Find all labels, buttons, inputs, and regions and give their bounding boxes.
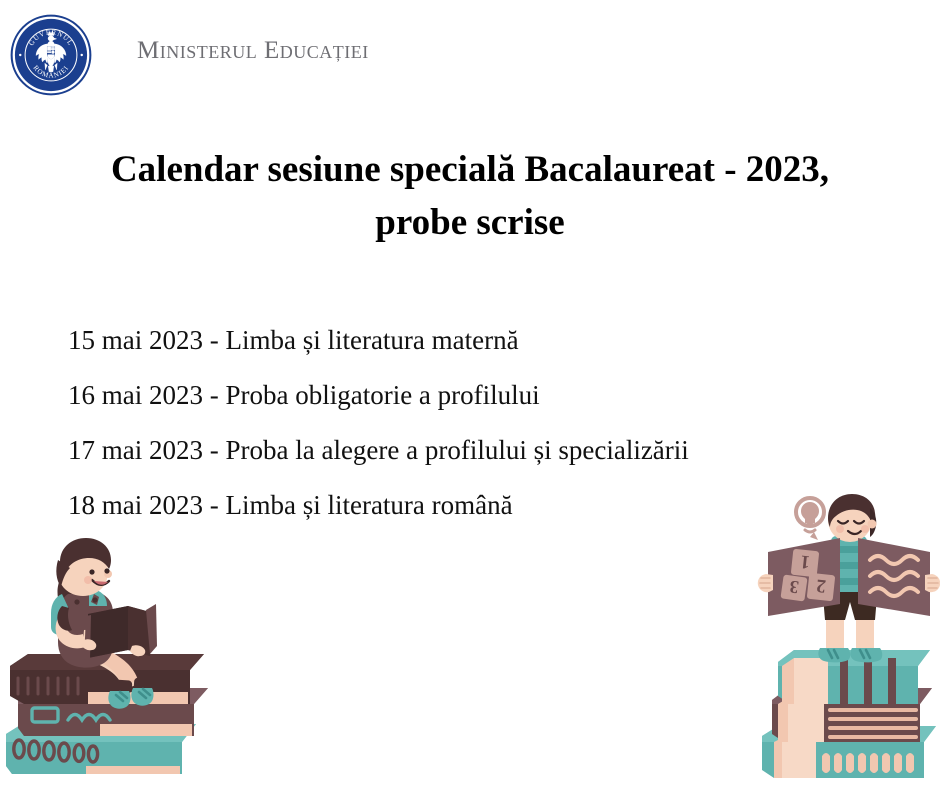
boy-standing-on-book-stack-illustration: 1 3 2 bbox=[752, 488, 940, 788]
page-title: Calendar sesiune specială Bacalaureat - … bbox=[60, 143, 880, 249]
schedule-item: 17 mai 2023 - Proba la alegere a profilu… bbox=[68, 423, 868, 478]
ministry-name-label: Ministerul Educației bbox=[137, 36, 369, 66]
exam-schedule-list: 15 mai 2023 - Limba și literatura matern… bbox=[68, 313, 868, 533]
government-seal-icon: GUVERNUL ROMÂNIEI bbox=[10, 14, 92, 96]
girl-reading-on-book-stack-illustration bbox=[0, 528, 224, 788]
page-header: GUVERNUL ROMÂNIEI bbox=[0, 0, 940, 110]
page-title-line-2: probe scrise bbox=[60, 196, 880, 249]
schedule-item: 18 mai 2023 - Limba și literatura română bbox=[68, 478, 868, 533]
schedule-item: 15 mai 2023 - Limba și literatura matern… bbox=[68, 313, 868, 368]
schedule-item: 16 mai 2023 - Proba obligatorie a profil… bbox=[68, 368, 868, 423]
lightbulb-icon bbox=[796, 498, 824, 540]
page-title-line-1: Calendar sesiune specială Bacalaureat - … bbox=[60, 143, 880, 196]
